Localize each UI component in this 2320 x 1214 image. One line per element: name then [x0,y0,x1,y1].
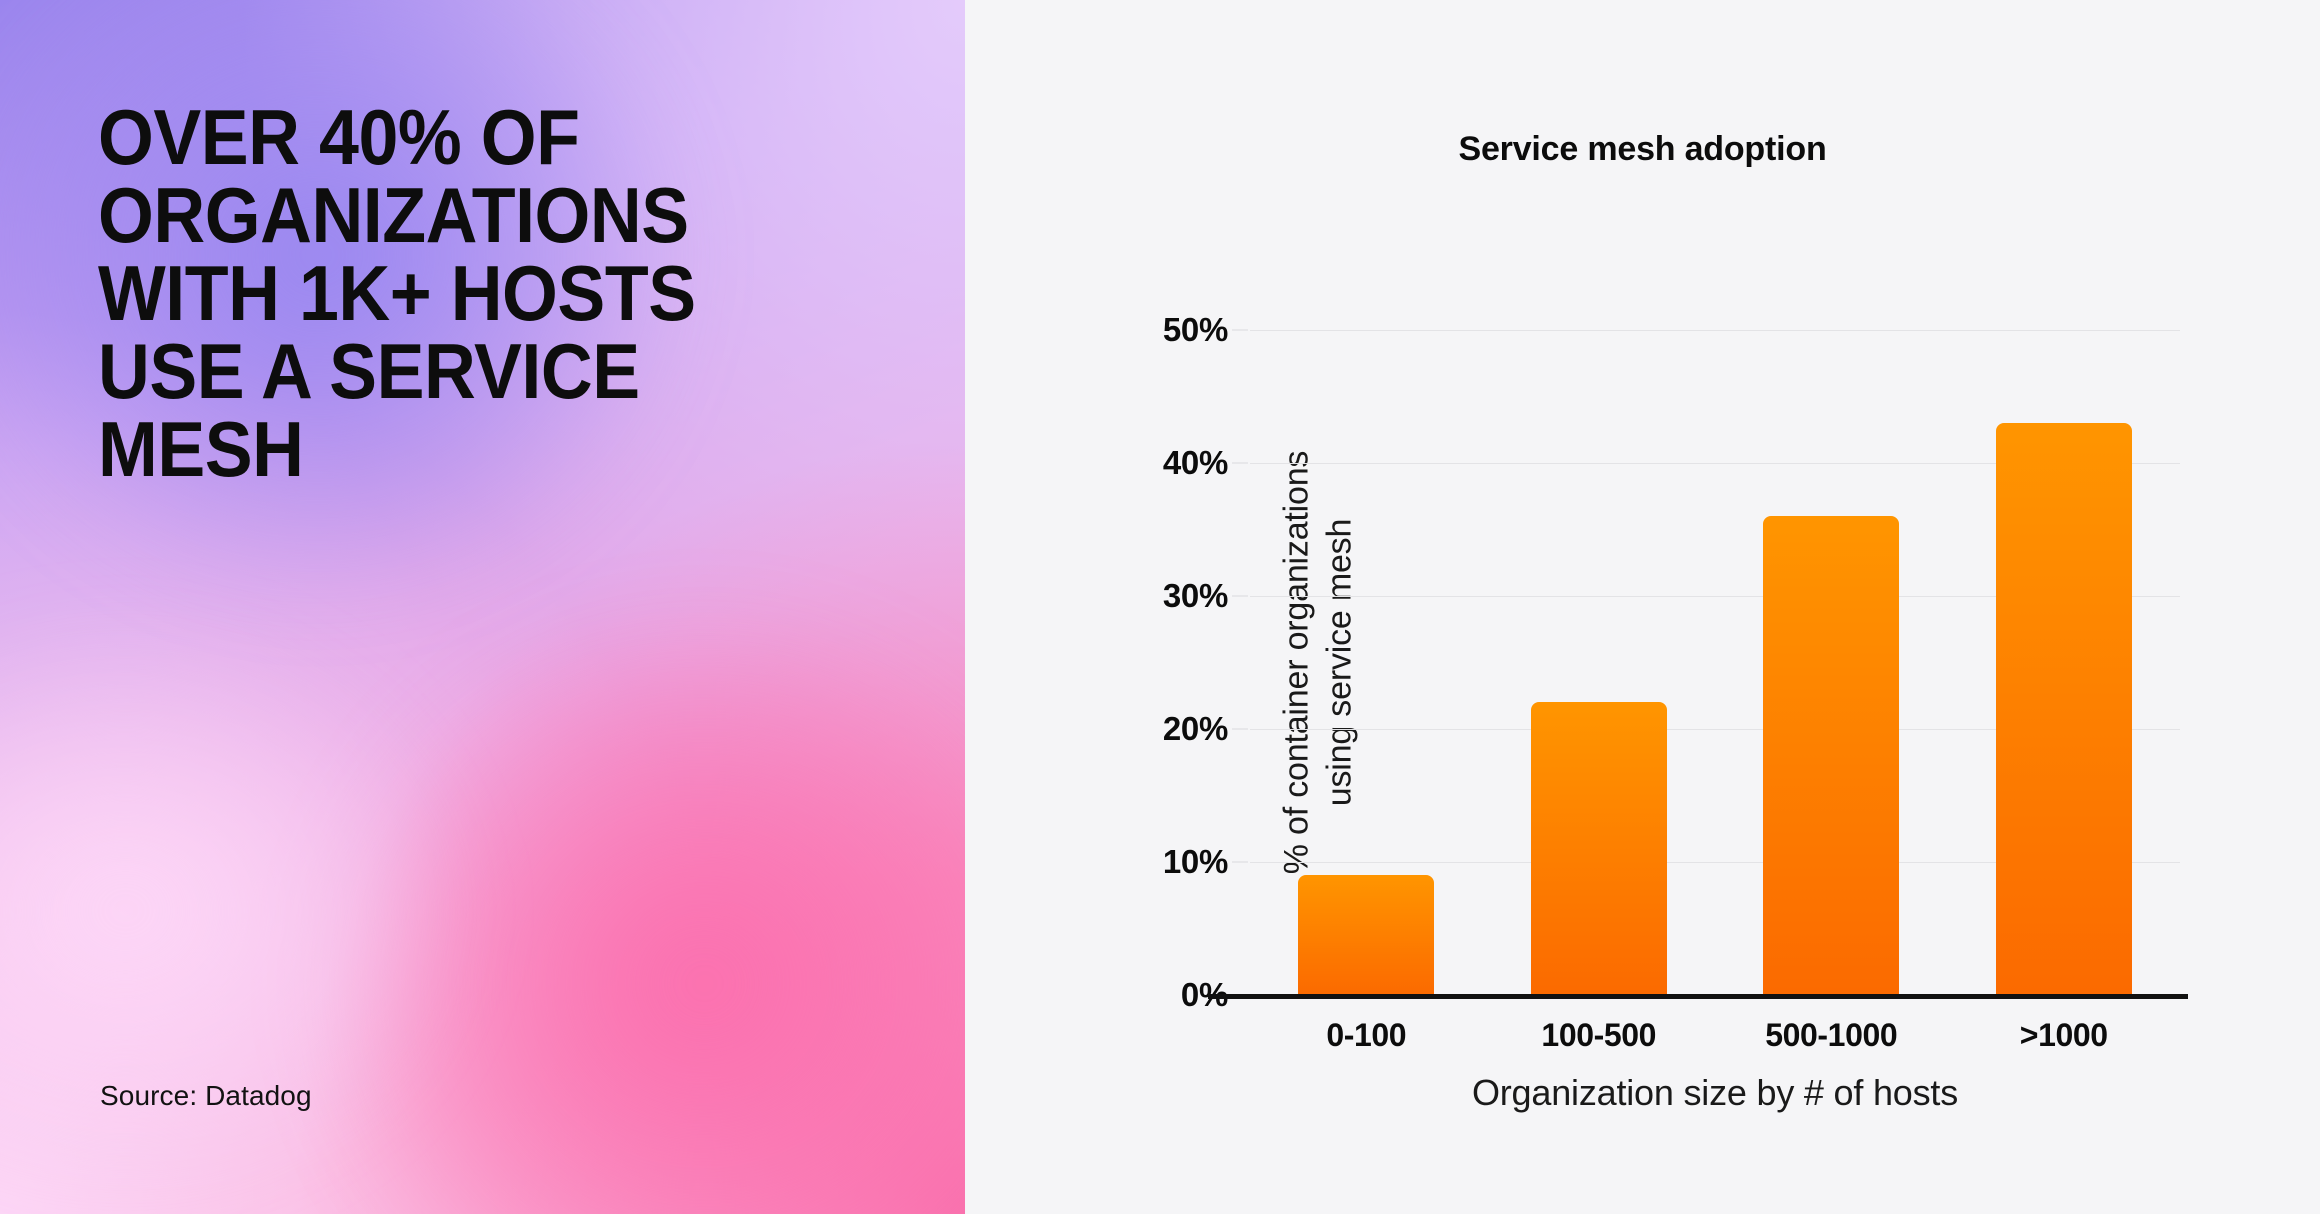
x-tick-label: >1000 [2020,1017,2108,1054]
headline-text: OVER 40% OF ORGANIZATIONS WITH 1K+ HOSTS… [98,98,816,488]
bar-slot: 500-1000 [1715,330,1948,995]
chart-panel: Service mesh adoption % of container org… [965,0,2320,1214]
plot-area: 0%10%20%30%40%50% 0-100100-500500-1000>1… [1250,330,2180,995]
bar[interactable] [1531,702,1667,995]
y-tick-mark [1232,463,1248,464]
bar-slot: >1000 [1948,330,2181,995]
y-tick-label: 20% [1163,710,1228,748]
x-tick-label: 0-100 [1326,1017,1406,1054]
x-tick-label: 100-500 [1541,1017,1656,1054]
y-tick-label: 40% [1163,444,1228,482]
bar-slot: 0-100 [1250,330,1483,995]
y-tick-mark [1232,862,1248,863]
y-tick-label: 30% [1163,577,1228,615]
source-attribution: Source: Datadog [100,1080,312,1112]
y-tick-mark [1232,330,1248,331]
bar[interactable] [1298,875,1434,995]
y-tick-mark [1232,729,1248,730]
bar[interactable] [1996,423,2132,995]
bar[interactable] [1763,516,1899,995]
gradient-hero-panel: OVER 40% OF ORGANIZATIONS WITH 1K+ HOSTS… [0,0,965,1214]
y-tick-mark [1232,596,1248,597]
y-tick-label: 10% [1163,843,1228,881]
chart-title: Service mesh adoption [965,130,2320,169]
infographic-canvas: OVER 40% OF ORGANIZATIONS WITH 1K+ HOSTS… [0,0,2320,1214]
y-tick-label: 50% [1163,311,1228,349]
x-tick-label: 500-1000 [1765,1017,1897,1054]
x-axis-title: Organization size by # of hosts [1250,1072,2180,1114]
x-axis-line [1208,994,2188,999]
bar-slot: 100-500 [1483,330,1716,995]
bar-series: 0-100100-500500-1000>1000 [1250,330,2180,995]
